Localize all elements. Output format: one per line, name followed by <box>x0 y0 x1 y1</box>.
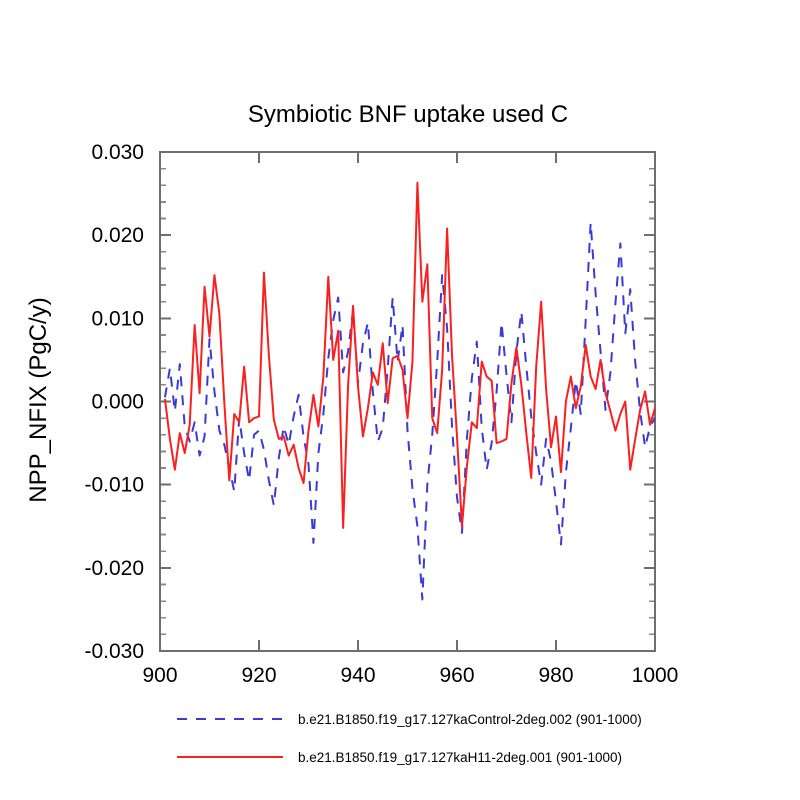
y-tick-label: -0.020 <box>84 557 144 580</box>
y-tick-label: -0.030 <box>84 640 144 663</box>
x-tick-label: 900 <box>142 664 177 687</box>
y-tick-label: 0.020 <box>91 224 144 247</box>
legend-label-1: b.e21.B1850.f19_g17.127kaH11-2deg.001 (9… <box>298 750 622 765</box>
page-title: Symbiotic BNF uptake used C <box>248 101 568 128</box>
chart-figure: Symbiotic BNF uptake used C NPP_NFIX (Pg… <box>0 0 800 800</box>
legend-label-0: b.e21.B1850.f19_g17.127kaControl-2deg.00… <box>298 712 642 727</box>
x-tick-label: 940 <box>340 664 375 687</box>
x-tick-label: 980 <box>538 664 573 687</box>
y-tick-label: 0.000 <box>91 391 144 414</box>
y-axis-title: NPP_NFIX (PgC/y) <box>25 297 52 502</box>
x-tick-label: 960 <box>439 664 474 687</box>
x-tick-label: 1000 <box>632 664 679 687</box>
time-series-chart: Symbiotic BNF uptake used C NPP_NFIX (Pg… <box>0 0 800 800</box>
y-tick-label: -0.010 <box>84 474 144 497</box>
y-tick-label: 0.030 <box>91 141 144 164</box>
y-tick-label: 0.010 <box>91 307 144 330</box>
x-tick-label: 920 <box>241 664 276 687</box>
